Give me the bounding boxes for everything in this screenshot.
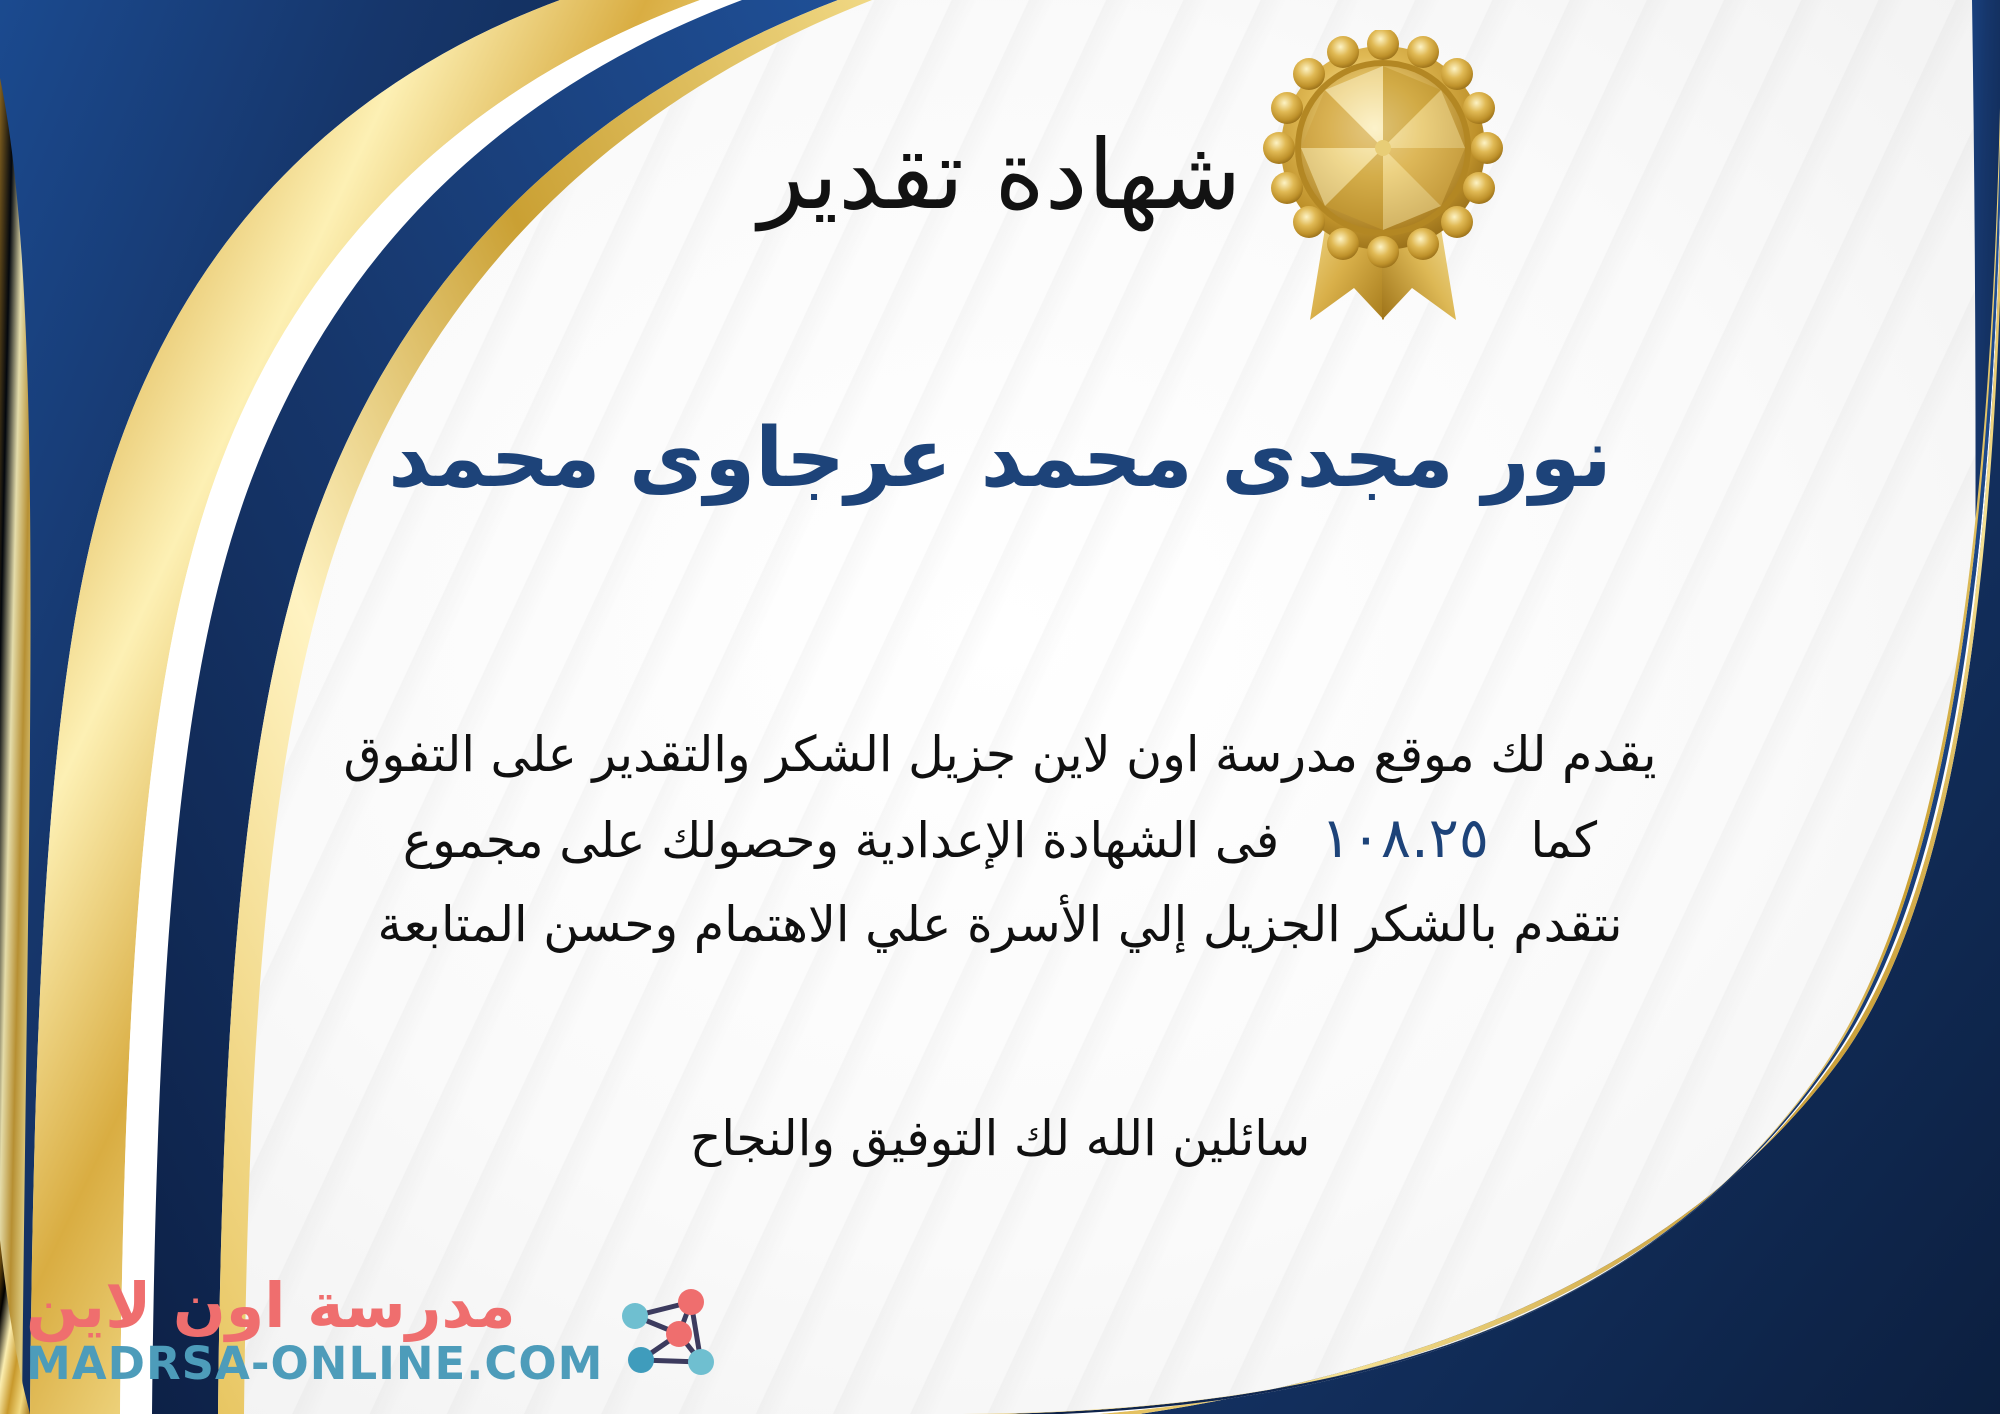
network-nodes-icon [613,1276,723,1386]
recipient-name: نور مجدى محمد عرجاوى محمد [150,410,1850,508]
body-line-2-text: فى الشهادة الإعدادية وحصولك على مجموع [403,812,1279,869]
certificate-canvas: شهادة تقدير نور مجدى محمد عرجاوى محمد يق… [0,0,2000,1414]
certificate-title: شهادة تقدير [150,120,1850,230]
brand-logo[interactable]: مدرسة اون لاين MADRSA-ONLINE.COM [26,1273,723,1388]
brand-arabic-name: مدرسة اون لاين [26,1273,516,1338]
brand-website-url: MADRSA-ONLINE.COM [26,1339,603,1389]
body-line-1: يقدم لك موقع مدرسة اون لاين جزيل الشكر و… [60,715,1940,794]
body-line-3: نتقدم بالشكر الجزيل إلي الأسرة علي الاهت… [60,885,1940,964]
body-line-2: كما ١٠٨.٢٥ فى الشهادة الإعدادية وحصولك ع… [60,794,1940,885]
certificate-body: يقدم لك موقع مدرسة اون لاين جزيل الشكر و… [60,715,1940,964]
brand-wordmark: مدرسة اون لاين MADRSA-ONLINE.COM [26,1273,603,1388]
body-line-2-suffix: كما [1531,812,1598,869]
closing-line: سائلين الله لك التوفيق والنجاح [150,1110,1850,1167]
score-value: ١٠٨.٢٥ [1295,806,1515,871]
